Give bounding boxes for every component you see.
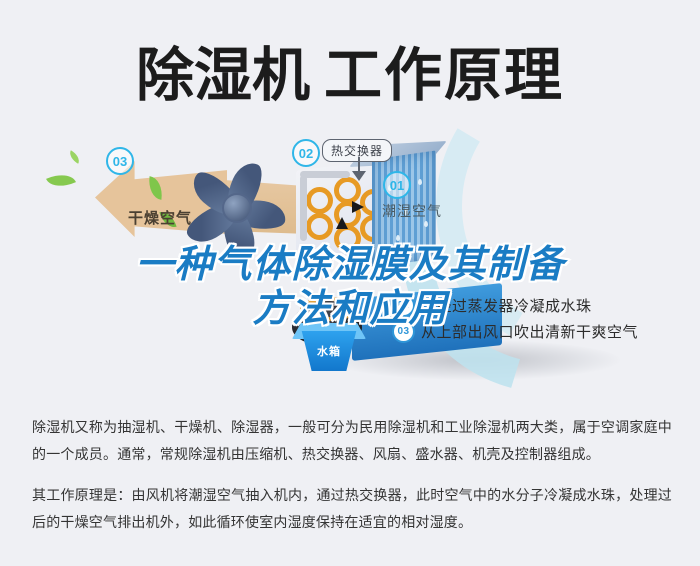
water-droplet-icon [418, 179, 422, 185]
overlay-headline-line2: 方法和应用 [0, 287, 700, 331]
flow-arrow-right-icon [352, 201, 364, 213]
heat-exchanger-callout: 热交换器 [322, 139, 392, 162]
body-paragraph-2: 其工作原理是：由风机将潮湿空气抽入机内，通过热交换器，此时空气中的水分子冷凝成水… [32, 482, 672, 536]
humid-air-label: 潮湿空气 [382, 201, 442, 221]
diagram-badge-01: 01 [383, 171, 411, 199]
refrigerant-pipe [300, 171, 350, 178]
callout-pointer-icon [352, 171, 366, 181]
page-title-part2: 工作原理 [324, 43, 564, 108]
fan-hub [222, 193, 252, 223]
leaf-icon [46, 168, 76, 192]
page-title-part1: 除湿机 [136, 43, 310, 108]
coil-loop [306, 213, 333, 240]
flow-arrow-up-icon [336, 217, 348, 229]
water-tank-label: 水箱 [292, 343, 366, 359]
coil-loop [306, 187, 333, 214]
article-body: 除湿机又称为抽湿机、干燥机、除湿器，一般可分为民用除湿机和工业除湿机两大类，属于… [32, 414, 672, 550]
dry-air-label: 干燥空气 [128, 207, 192, 228]
page-title: 除湿机工作原理 [0, 28, 700, 112]
page-root: 除湿机工作原理 [0, 0, 700, 566]
overlay-headline-line1: 一种气体除湿膜及其制备 [0, 243, 700, 287]
water-droplet-icon [396, 235, 400, 241]
coil-loop [334, 177, 361, 204]
refrigerant-pipe [300, 175, 307, 241]
diagram-badge-02: 02 [292, 139, 320, 167]
overlay-headline: 一种气体除湿膜及其制备 方法和应用 [0, 243, 700, 331]
water-droplet-icon [424, 221, 428, 227]
diagram-badge-03: 03 [106, 147, 134, 175]
leaf-icon [67, 150, 82, 163]
body-paragraph-1: 除湿机又称为抽湿机、干燥机、除湿器，一般可分为民用除湿机和工业除湿机两大类，属于… [32, 414, 672, 468]
